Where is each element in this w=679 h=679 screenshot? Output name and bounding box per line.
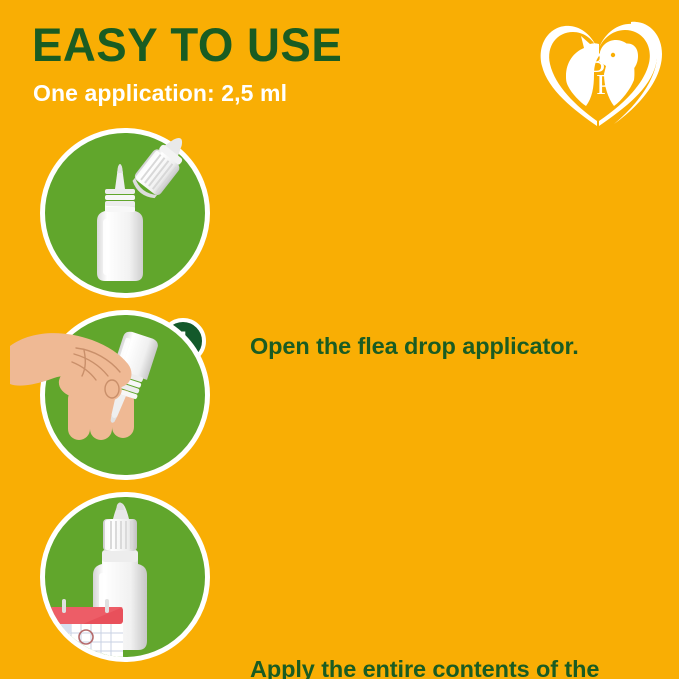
step-1-circle xyxy=(40,128,210,298)
header: EASY TO USE One application: 2,5 ml B P xyxy=(0,0,679,122)
dropper-bottle-open-icon xyxy=(45,133,210,298)
easy-to-use-infographic: EASY TO USE One application: 2,5 ml B P xyxy=(0,0,679,679)
svg-text:P: P xyxy=(596,70,612,101)
step-2-circle xyxy=(40,310,210,480)
step-1-illustration xyxy=(40,128,220,308)
step-1: 1 Open the flea drop applicator. xyxy=(0,128,679,308)
page-title: EASY TO USE xyxy=(32,21,342,68)
closed-bottle-with-calendar-icon xyxy=(45,497,210,662)
step-3-illustration xyxy=(40,492,220,672)
subtitle-dosage: One application: 2,5 ml xyxy=(33,82,287,105)
step-2-illustration xyxy=(40,310,220,490)
cat-dog-heart-bp-logo-icon: B P xyxy=(534,14,664,134)
step-3-circle xyxy=(40,492,210,662)
step-2: 2 Apply the entire contents of the appli… xyxy=(0,310,679,490)
step-3: 3 Reapply once a month. xyxy=(0,492,679,672)
